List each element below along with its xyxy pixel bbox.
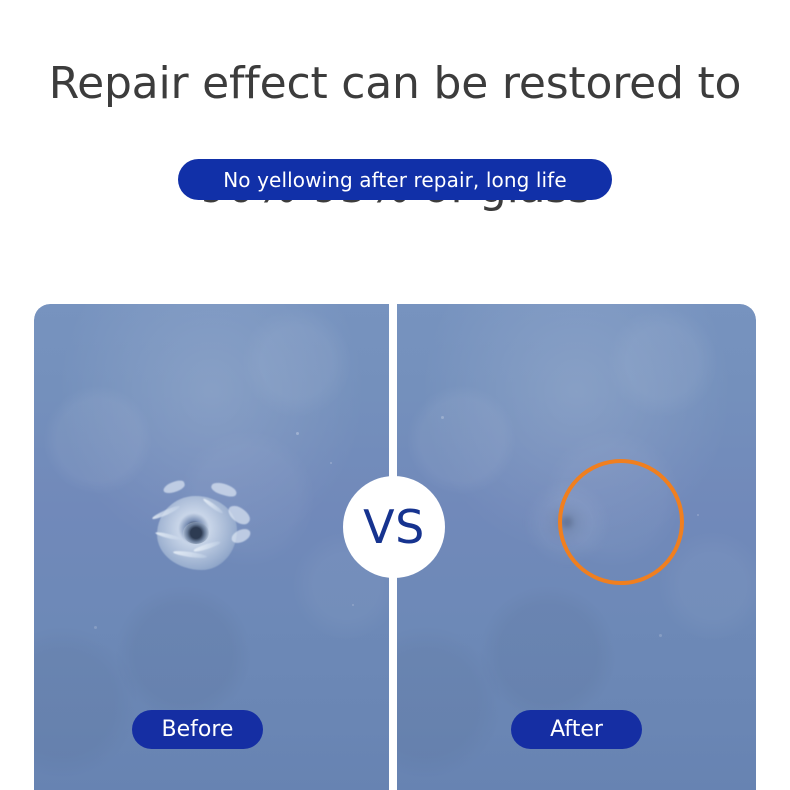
- page-title: Repair effect can be restored to 90%-95%…: [0, 6, 790, 266]
- after-caption-label: After: [550, 719, 603, 741]
- before-caption-pill: Before: [132, 710, 263, 749]
- after-caption-pill: After: [511, 710, 642, 749]
- before-panel: Before: [34, 304, 389, 790]
- after-panel: After: [397, 304, 756, 790]
- before-after-comparison: Before After VS: [34, 304, 756, 790]
- vs-badge: VS: [343, 476, 445, 578]
- before-caption-label: Before: [162, 719, 234, 741]
- vs-label: VS: [363, 504, 425, 550]
- feature-badge: No yellowing after repair, long life: [178, 159, 612, 200]
- feature-badge-label: No yellowing after repair, long life: [223, 170, 566, 190]
- headline-line-1: Repair effect can be restored to: [0, 58, 790, 110]
